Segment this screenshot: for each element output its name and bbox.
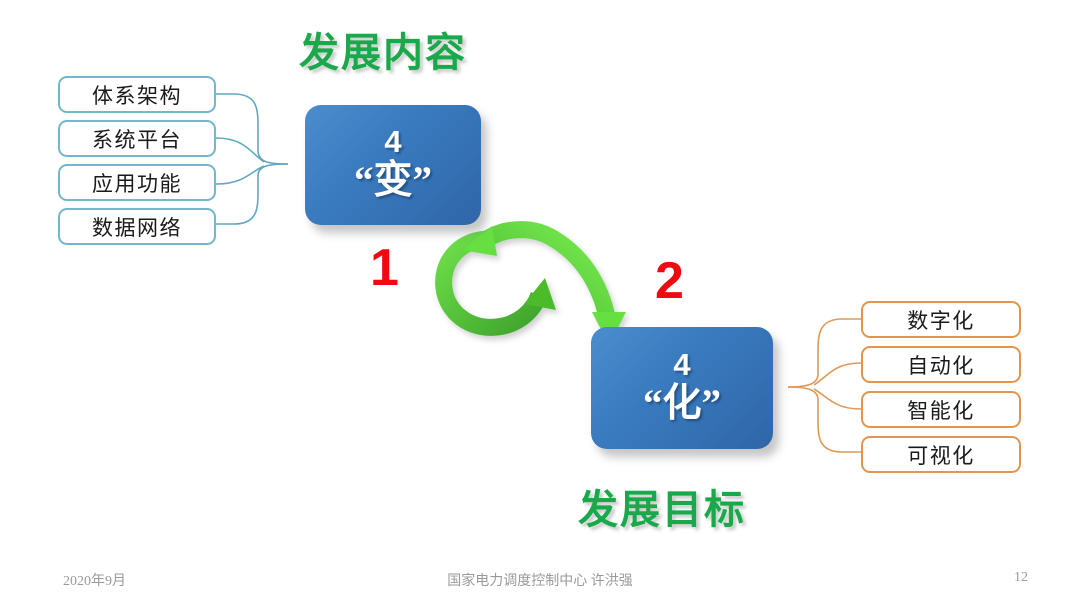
right-item-intelligence-label: 智能化 xyxy=(907,395,975,425)
footer-page-number: 12 xyxy=(1014,570,1028,586)
slide-canvas: 发展内容 发展目标 1 2 4 “变” 4 “化” 体系架构 系统平台 应用功能… xyxy=(0,0,1080,608)
heading-development-content: 发展内容 xyxy=(299,20,467,78)
left-item-data-network[interactable]: 数据网络 xyxy=(58,208,216,245)
left-item-platform[interactable]: 系统平台 xyxy=(58,120,216,157)
node-four-izations[interactable]: 4 “化” xyxy=(591,327,773,449)
left-item-data-network-label: 数据网络 xyxy=(92,212,182,242)
left-item-application-label: 应用功能 xyxy=(92,168,182,198)
left-item-architecture[interactable]: 体系架构 xyxy=(58,76,216,113)
left-item-platform-label: 系统平台 xyxy=(92,124,182,154)
node-four-changes[interactable]: 4 “变” xyxy=(305,105,481,225)
node-four-izations-word: “化” xyxy=(643,381,721,427)
node-four-izations-number: 4 xyxy=(673,349,690,382)
node-four-changes-number: 4 xyxy=(384,126,401,159)
slide-footer: 2020年9月 国家电力调度控制中心 许洪强 12 xyxy=(0,565,1080,595)
step-number-1: 1 xyxy=(370,242,399,294)
heading-development-goal: 发展目标 xyxy=(578,477,746,535)
right-bracket-connector xyxy=(788,319,861,452)
node-four-changes-word: “变” xyxy=(354,158,432,204)
left-item-application[interactable]: 应用功能 xyxy=(58,164,216,201)
right-item-digitalization-label: 数字化 xyxy=(907,305,975,335)
right-item-visualization[interactable]: 可视化 xyxy=(861,436,1021,473)
left-bracket-connector xyxy=(216,94,288,224)
right-item-digitalization[interactable]: 数字化 xyxy=(861,301,1021,338)
left-item-architecture-label: 体系架构 xyxy=(92,80,182,110)
cycle-arrow-icon xyxy=(444,226,626,345)
footer-center-text: 国家电力调度控制中心 许洪强 xyxy=(0,570,1080,590)
right-item-automation[interactable]: 自动化 xyxy=(861,346,1021,383)
right-item-visualization-label: 可视化 xyxy=(907,440,975,470)
step-number-2: 2 xyxy=(655,255,684,307)
right-item-intelligence[interactable]: 智能化 xyxy=(861,391,1021,428)
right-item-automation-label: 自动化 xyxy=(907,350,975,380)
